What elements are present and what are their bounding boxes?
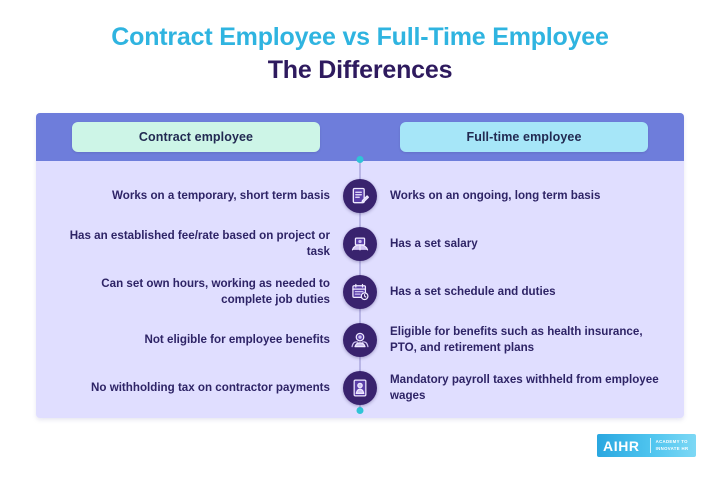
document-edit-icon <box>343 179 377 213</box>
row-icon <box>340 179 380 213</box>
payroll-tax-icon <box>343 371 377 405</box>
row-left-text: Works on a temporary, short term basis <box>50 188 340 204</box>
card-body: Works on a temporary, short term basis <box>36 161 684 418</box>
comparison-card: Contract employee Full-time employee Wor… <box>36 113 684 418</box>
page-title: Contract Employee vs Full-Time Employee … <box>0 22 720 85</box>
row-left-text: Can set own hours, working as needed to … <box>50 276 340 307</box>
aihr-logo-tagline-line2: INNOVATE HR <box>656 446 689 452</box>
row-left-text: No withholding tax on contractor payment… <box>50 380 340 396</box>
row-left-text: Not eligible for employee benefits <box>50 332 340 348</box>
comparison-rows: Works on a temporary, short term basis <box>36 161 684 410</box>
row-right-text: Has a set schedule and duties <box>380 284 670 300</box>
card-header: Contract employee Full-time employee <box>36 113 684 161</box>
table-row: Has an established fee/rate based on pro… <box>36 221 684 266</box>
infographic-page: Contract Employee vs Full-Time Employee … <box>0 0 720 477</box>
table-row: Can set own hours, working as needed to … <box>36 269 684 314</box>
title-line-1: Contract Employee vs Full-Time Employee <box>0 22 720 53</box>
aihr-logo-mark: AIHR <box>603 434 645 457</box>
table-row: Not eligible for employee benefits <box>36 317 684 362</box>
row-icon <box>340 227 380 261</box>
column-header-fulltime-employee: Full-time employee <box>400 122 648 152</box>
row-right-text: Works on an ongoing, long term basis <box>380 188 670 204</box>
table-row: No withholding tax on contractor payment… <box>36 365 684 410</box>
row-icon <box>340 323 380 357</box>
row-right-text: Has a set salary <box>380 236 670 252</box>
row-icon <box>340 275 380 309</box>
logo-divider <box>650 438 651 453</box>
row-right-text: Mandatory payroll taxes withheld from em… <box>380 372 670 403</box>
title-line-2: The Differences <box>0 55 720 86</box>
aihr-logo-tagline: ACADEMY TO INNOVATE HR <box>656 434 691 457</box>
row-right-text: Eligible for benefits such as health ins… <box>380 324 670 355</box>
table-row: Works on a temporary, short term basis <box>36 173 684 218</box>
handshake-money-icon <box>343 227 377 261</box>
column-header-contract-employee: Contract employee <box>72 122 320 152</box>
aihr-logo: AIHR ACADEMY TO INNOVATE HR <box>597 434 696 457</box>
column-header-contract-employee-label: Contract employee <box>139 130 253 144</box>
column-header-fulltime-employee-label: Full-time employee <box>466 130 581 144</box>
row-left-text: Has an established fee/rate based on pro… <box>50 228 340 259</box>
calendar-clock-icon <box>343 275 377 309</box>
row-icon <box>340 371 380 405</box>
hands-shield-benefits-icon <box>343 323 377 357</box>
